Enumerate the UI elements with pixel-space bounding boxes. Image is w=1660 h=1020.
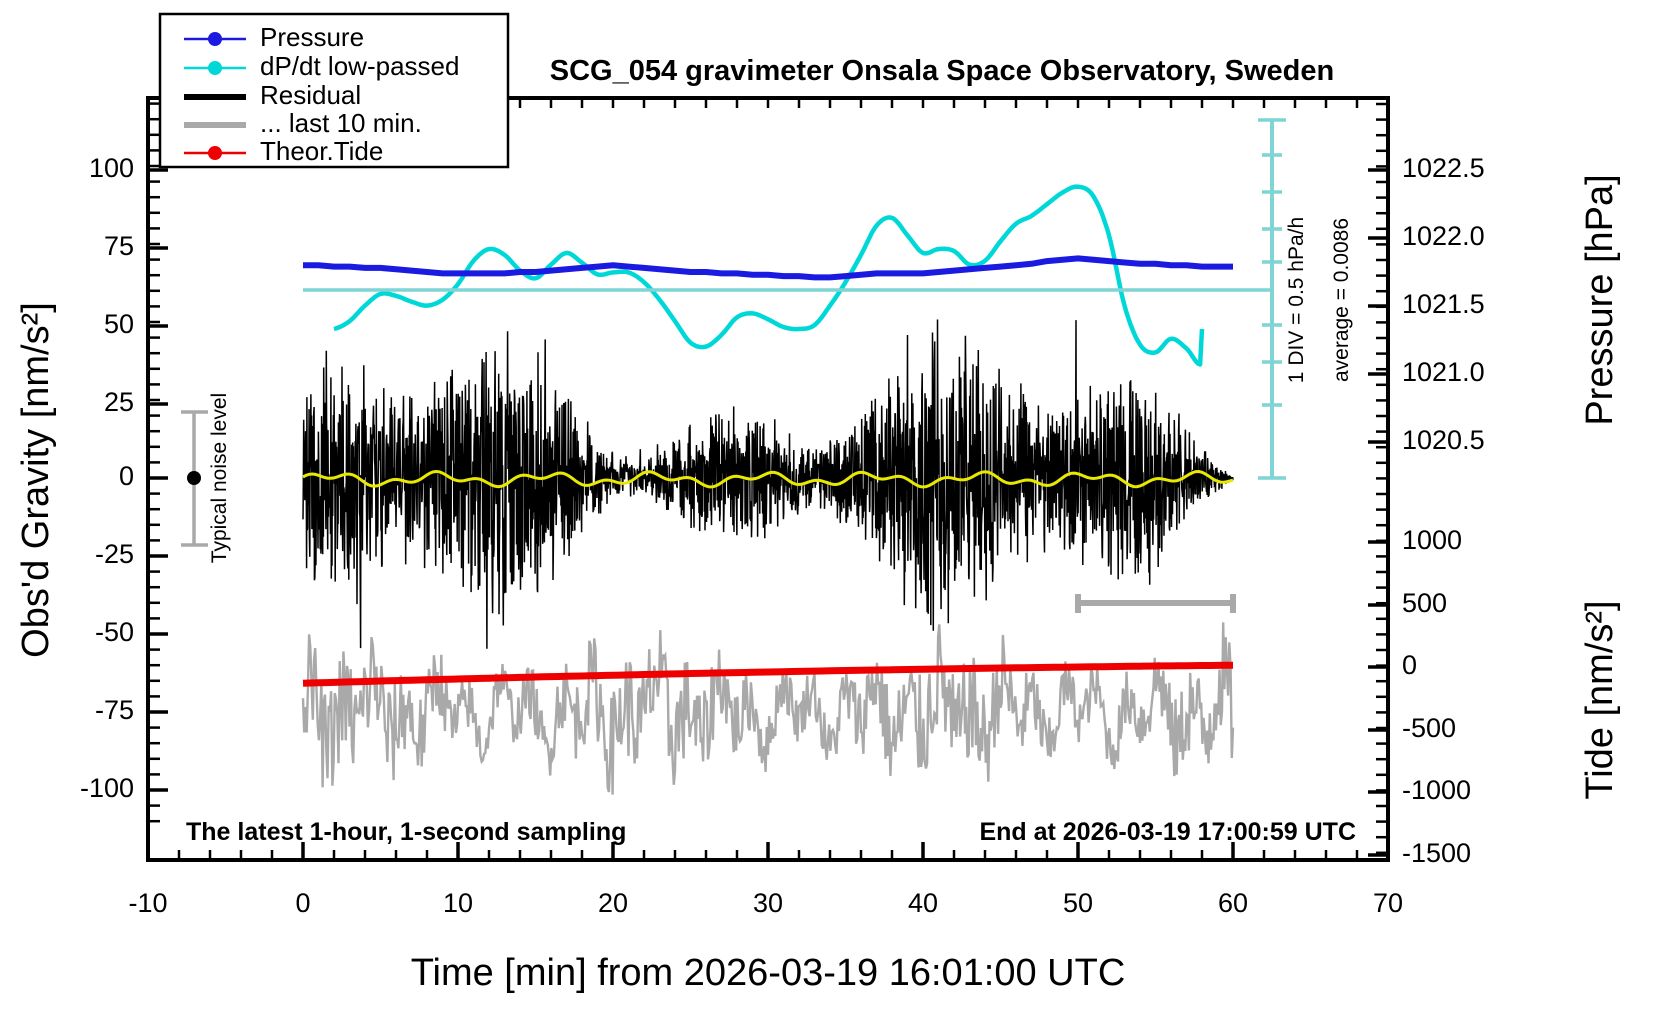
legend-dot-icon (208, 146, 222, 160)
x-tick-label: -10 (128, 888, 167, 918)
x-tick-label: 20 (598, 888, 628, 918)
legend-label: dP/dt low-passed (260, 51, 459, 81)
gravimeter-chart: -10 0 10 20 30 40 50 60 70 Time [min] fr… (0, 0, 1660, 1020)
y-tick-label: 50 (104, 309, 134, 339)
x-tick-label: 70 (1373, 888, 1403, 918)
dpdt-average-note: average = 0.0086 (1330, 218, 1353, 382)
y-axis-title-left: Obs'd Gravity [nm/s²] (15, 302, 57, 658)
y-axis-title-tide: Tide [nm/s²] (1579, 600, 1621, 799)
legend-dot-icon (208, 61, 222, 75)
y-tick-label: -100 (80, 773, 134, 803)
pressure-tick-label: 1022.0 (1402, 221, 1485, 251)
x-tick-label: 30 (753, 888, 783, 918)
y-tick-label: -75 (95, 695, 134, 725)
y-tick-label: 25 (104, 387, 134, 417)
x-axis-title: Time [min] from 2026-03-19 16:01:00 UTC (411, 952, 1126, 994)
page-title: SCG_054 gravimeter Onsala Space Observat… (550, 55, 1334, 87)
tide-tick-label: -1000 (1402, 775, 1471, 805)
sampling-note: The latest 1-hour, 1-second sampling (186, 818, 626, 846)
typical-noise-level-label: Typical noise level (208, 393, 231, 563)
y-tick-label: -50 (95, 617, 134, 647)
legend-label: Pressure (260, 22, 364, 52)
tide-tick-label: 500 (1402, 588, 1447, 618)
legend-dot-icon (208, 32, 222, 46)
y-tick-label: -25 (95, 539, 134, 569)
x-tick-label: 0 (295, 888, 310, 918)
x-tick-label: 60 (1218, 888, 1248, 918)
y-tick-label: 100 (89, 153, 134, 183)
end-time-note: End at 2026-03-19 17:00:59 UTC (979, 818, 1356, 846)
y-axis-title-pressure: Pressure [hPa] (1579, 174, 1621, 425)
x-tick-label: 40 (908, 888, 938, 918)
tide-tick-label: 0 (1402, 650, 1417, 680)
dpdt-scale-note: 1 DIV = 0.5 hPa/h (1285, 217, 1308, 383)
x-tick-label: 10 (443, 888, 473, 918)
legend-label: Residual (260, 80, 361, 110)
pressure-tick-label: 1021.5 (1402, 289, 1485, 319)
pressure-tick-label: 1022.5 (1402, 153, 1485, 183)
tide-tick-label: -1500 (1402, 838, 1471, 868)
pressure-tick-label: 1020.5 (1402, 425, 1485, 455)
tide-tick-label: 1000 (1402, 525, 1462, 555)
y-tick-label: 0 (119, 461, 134, 491)
legend-label: ... last 10 min. (260, 108, 422, 138)
pressure-tick-label: 1021.0 (1402, 357, 1485, 387)
tide-tick-label: -500 (1402, 713, 1456, 743)
legend: Pressure dP/dt low-passed Residual ... l… (160, 14, 508, 167)
x-axis-minor-ticks (148, 850, 1388, 860)
noise-center-dot (187, 471, 201, 485)
legend-label: Theor.Tide (260, 136, 383, 166)
x-tick-label: 50 (1063, 888, 1093, 918)
chart-page: -10 0 10 20 30 40 50 60 70 Time [min] fr… (0, 0, 1660, 1020)
y-tick-label: 75 (104, 231, 134, 261)
